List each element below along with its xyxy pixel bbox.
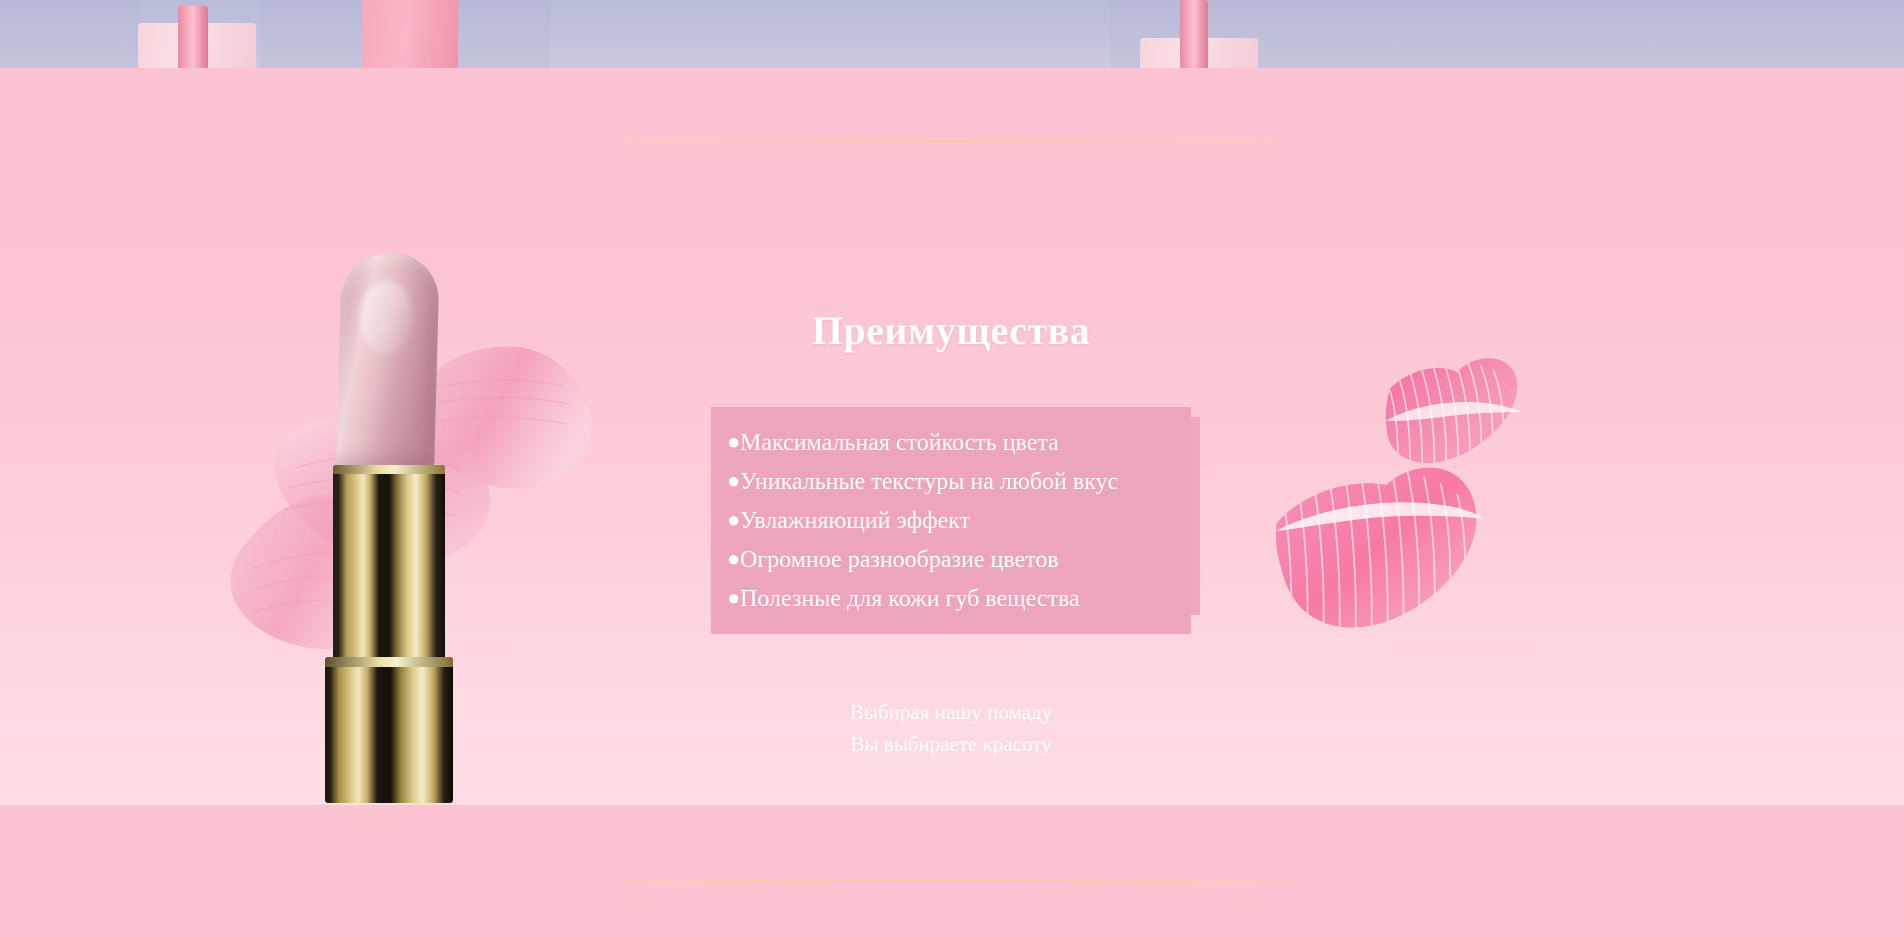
benefits-panel: ●Максимальная стойкость цвета ●Уникальны… bbox=[711, 407, 1191, 634]
top-photo-banner bbox=[0, 0, 1904, 68]
list-item: ●Максимальная стойкость цвета bbox=[727, 423, 1177, 462]
divider-bottom bbox=[592, 880, 1304, 882]
page-title: Преимущества bbox=[595, 136, 1307, 351]
list-item-label: Полезные для кожи губ вещества bbox=[740, 586, 1080, 612]
lipstick-bullet bbox=[336, 253, 440, 468]
divider-top bbox=[592, 140, 1304, 142]
lipstick-tube-base bbox=[325, 657, 453, 803]
list-item: ●Уникальные текстуры на любой вкус bbox=[727, 462, 1177, 501]
content-column: Преимущества ●Максимальная стойкость цве… bbox=[595, 136, 1307, 805]
benefits-list: ●Максимальная стойкость цвета ●Уникальны… bbox=[727, 423, 1177, 618]
banner-pink-slab bbox=[362, 0, 458, 68]
bullet-dot-icon: ● bbox=[727, 462, 740, 500]
tagline-line-2: Вы выбираете красоту bbox=[595, 728, 1307, 760]
list-item-label: Огромное разнообразие цветов bbox=[740, 547, 1059, 573]
product-artwork bbox=[225, 223, 605, 803]
bullet-dot-icon: ● bbox=[727, 579, 740, 617]
banner-wall-left bbox=[0, 0, 140, 68]
banner-lipstick-left bbox=[178, 6, 208, 68]
tagline-line-1: Выбирая нашу помаду bbox=[595, 696, 1307, 728]
list-item: ●Увлажняющий эффект bbox=[727, 501, 1177, 540]
bullet-dot-icon: ● bbox=[727, 501, 740, 539]
bottom-band bbox=[0, 805, 1904, 937]
bullet-dot-icon: ● bbox=[727, 540, 740, 578]
slide-root: Преимущества ●Максимальная стойкость цве… bbox=[0, 0, 1904, 937]
lipstick-bullet-highlight bbox=[359, 281, 413, 353]
lipstick-tube bbox=[325, 223, 453, 803]
main-stage: Преимущества ●Максимальная стойкость цве… bbox=[0, 68, 1904, 805]
tagline: Выбирая нашу помаду Вы выбираете красоту bbox=[595, 696, 1307, 760]
benefits-panel-wrapper: ●Максимальная стойкость цвета ●Уникальны… bbox=[711, 407, 1191, 634]
list-item: ●Полезные для кожи губ вещества bbox=[727, 579, 1177, 618]
list-item-label: Максимальная стойкость цвета bbox=[740, 430, 1059, 456]
lipstick-tube-upper bbox=[333, 465, 445, 665]
list-item: ●Огромное разнообразие цветов bbox=[727, 540, 1177, 579]
bullet-dot-icon: ● bbox=[727, 423, 740, 461]
banner-lipstick-right bbox=[1180, 0, 1208, 68]
list-item-label: Уникальные текстуры на любой вкус bbox=[740, 469, 1118, 495]
list-item-label: Увлажняющий эффект bbox=[740, 508, 970, 534]
